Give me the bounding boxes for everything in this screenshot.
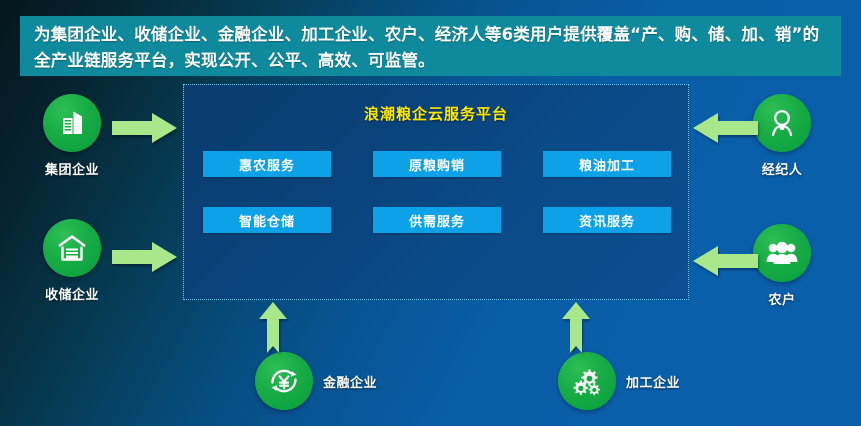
gears-icon: [558, 352, 616, 410]
infographic-canvas: 为集团企业、收储企业、金融企业、加工企业、农户、经济人等6类用户提供覆盖“产、购…: [0, 0, 861, 426]
actor-group-enterprise[interactable]: 集团企业: [43, 94, 101, 178]
actor-storage-enterprise[interactable]: 收储企业: [43, 219, 101, 303]
actor-farmer[interactable]: 农户: [753, 224, 811, 308]
actor-label-broker: 经纪人: [753, 159, 811, 178]
service-gong-xu[interactable]: 供需服务: [373, 207, 501, 233]
actor-label-processing-enterprise: 加工企业: [626, 372, 680, 391]
warehouse-icon: [43, 219, 101, 277]
arrow-up-processing-enterprise: [561, 302, 591, 354]
actor-label-financial-enterprise: 金融企业: [323, 372, 377, 391]
actor-label-group-enterprise: 集团企业: [43, 159, 101, 178]
platform-panel: 浪潮粮企云服务平台 惠农服务 原粮购销 粮油加工 智能仓储 供需服务 资讯服务: [183, 84, 689, 300]
arrow-left-broker: [692, 111, 758, 145]
person-icon: [753, 94, 811, 152]
service-row-2: 智能仓储 供需服务 资讯服务: [203, 207, 671, 233]
arrow-right-storage-enterprise: [112, 240, 178, 274]
banner-text: 为集团企业、收储企业、金融企业、加工企业、农户、经济人等6类用户提供覆盖“产、购…: [34, 22, 829, 74]
header-banner: 为集团企业、收储企业、金融企业、加工企业、农户、经济人等6类用户提供覆盖“产、购…: [20, 16, 841, 76]
actor-label-farmer: 农户: [753, 289, 811, 308]
arrow-right-group-enterprise: [112, 111, 178, 145]
arrow-up-financial-enterprise: [258, 302, 288, 354]
platform-title: 浪潮粮企云服务平台: [184, 103, 688, 124]
service-yuan-liang[interactable]: 原粮购销: [373, 151, 501, 177]
yuan-currency-icon: [255, 352, 313, 410]
people-group-icon: [753, 224, 811, 282]
service-liang-you[interactable]: 粮油加工: [543, 151, 671, 177]
arrow-left-farmer: [692, 244, 758, 278]
actor-processing-enterprise[interactable]: 加工企业: [558, 352, 680, 410]
office-building-icon: [43, 94, 101, 152]
service-row-1: 惠农服务 原粮购销 粮油加工: [203, 151, 671, 177]
actor-broker[interactable]: 经纪人: [753, 94, 811, 178]
actor-financial-enterprise[interactable]: 金融企业: [255, 352, 377, 410]
service-zhi-neng[interactable]: 智能仓储: [203, 207, 331, 233]
service-zi-xun[interactable]: 资讯服务: [543, 207, 671, 233]
actor-label-storage-enterprise: 收储企业: [43, 284, 101, 303]
service-hui-nong[interactable]: 惠农服务: [203, 151, 331, 177]
